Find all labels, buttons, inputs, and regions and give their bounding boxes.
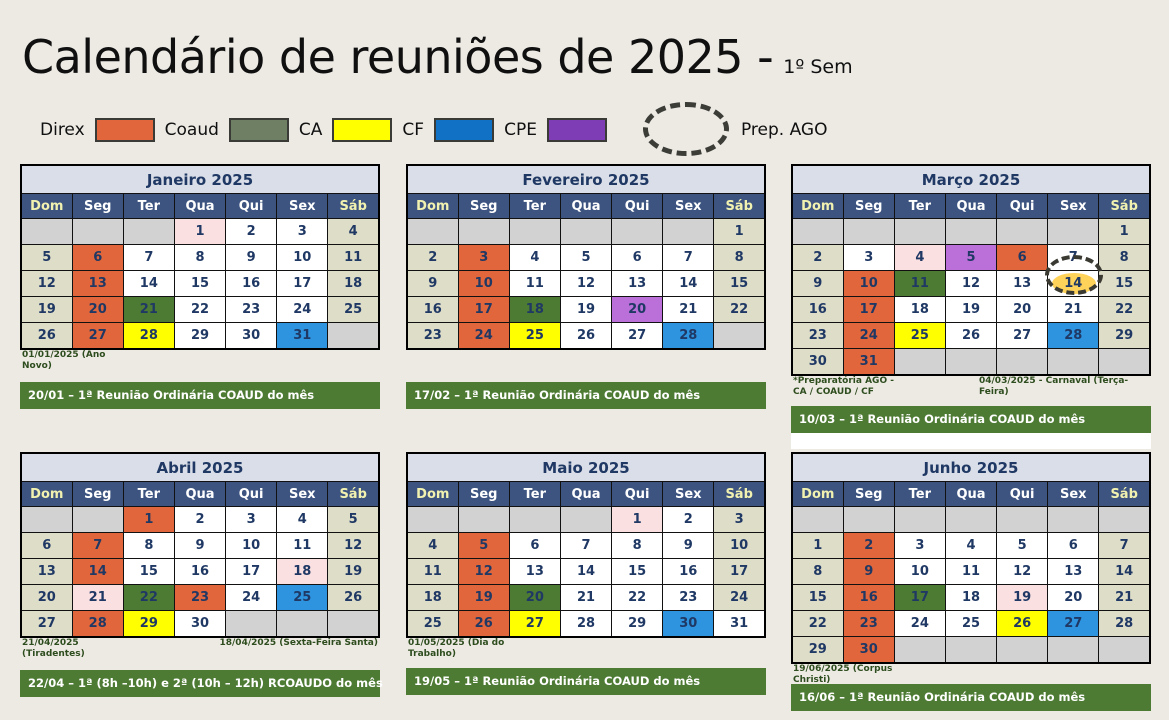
week-row: 567891011 — [21, 245, 379, 271]
day-cell-january-23[interactable]: 23 — [226, 297, 277, 323]
day-cell-april-29[interactable]: 29 — [123, 611, 174, 638]
day-cell-march-15[interactable]: 15 — [1099, 271, 1150, 297]
calendar-table-january: Janeiro 2025DomSegTerQuaQuiSexSáb1234567… — [20, 164, 380, 350]
legend-prep-ago-marker — [643, 102, 733, 158]
legend-label-coaud: Coaud — [165, 120, 219, 140]
day-cell-empty — [72, 507, 123, 533]
day-cell-june-12[interactable]: 12 — [997, 559, 1048, 585]
day-cell-april-21[interactable]: 21 — [72, 585, 123, 611]
legend: DirexCoaudCACFCPEPrep. AGO — [40, 115, 827, 145]
day-cell-march-22[interactable]: 22 — [1099, 297, 1150, 323]
day-cell-february-23[interactable]: 23 — [407, 323, 458, 350]
day-cell-february-9[interactable]: 9 — [407, 271, 458, 297]
day-cell-april-16[interactable]: 16 — [174, 559, 225, 585]
legend-label-ca: CA — [299, 120, 323, 140]
dow-header-sex: Sex — [277, 482, 328, 507]
day-cell-june-17[interactable]: 17 — [894, 585, 945, 611]
day-cell-march-30[interactable]: 30 — [792, 349, 843, 376]
calendar-table-march: Março 2025DomSegTerQuaQuiSexSáb123456789… — [791, 164, 1151, 376]
day-cell-june-21[interactable]: 21 — [1099, 585, 1150, 611]
dow-header-seg: Seg — [458, 194, 509, 219]
legend-swatch-cpe — [547, 118, 607, 142]
day-cell-january-4[interactable]: 4 — [328, 219, 379, 245]
day-cell-may-25[interactable]: 25 — [407, 611, 458, 638]
day-cell-january-27[interactable]: 27 — [72, 323, 123, 350]
day-cell-may-16[interactable]: 16 — [663, 559, 714, 585]
day-cell-june-27[interactable]: 27 — [1048, 611, 1099, 637]
day-cell-january-14[interactable]: 14 — [123, 271, 174, 297]
day-cell-january-1[interactable]: 1 — [174, 219, 225, 245]
dow-header-seg: Seg — [72, 482, 123, 507]
day-cell-empty — [560, 219, 611, 245]
day-cell-june-29[interactable]: 29 — [792, 637, 843, 664]
page-title-semester: 1º Sem — [783, 56, 852, 78]
day-cell-february-15[interactable]: 15 — [714, 271, 765, 297]
day-cell-june-11[interactable]: 11 — [945, 559, 996, 585]
month-notes-may: 01/05/2025 (Dia do Trabalho) — [406, 638, 766, 668]
day-cell-february-10[interactable]: 10 — [458, 271, 509, 297]
day-cell-april-24[interactable]: 24 — [226, 585, 277, 611]
day-cell-may-3[interactable]: 3 — [714, 507, 765, 533]
day-cell-february-1[interactable]: 1 — [714, 219, 765, 245]
day-cell-april-14[interactable]: 14 — [72, 559, 123, 585]
month-title-march: Março 2025 — [792, 165, 1150, 194]
calendar-table-february: Fevereiro 2025DomSegTerQuaQuiSexSáb12345… — [406, 164, 766, 350]
dow-header-qui: Qui — [612, 482, 663, 507]
day-cell-may-11[interactable]: 11 — [407, 559, 458, 585]
legend-label-cpe: CPE — [504, 120, 537, 140]
day-cell-february-8[interactable]: 8 — [714, 245, 765, 271]
day-cell-february-20[interactable]: 20 — [612, 297, 663, 323]
day-cell-june-23[interactable]: 23 — [843, 611, 894, 637]
dow-header-seg: Seg — [843, 482, 894, 507]
day-cell-may-5[interactable]: 5 — [458, 533, 509, 559]
day-cell-may-12[interactable]: 12 — [458, 559, 509, 585]
day-cell-march-6[interactable]: 6 — [997, 245, 1048, 271]
day-cell-january-11[interactable]: 11 — [328, 245, 379, 271]
dow-header-sex: Sex — [277, 194, 328, 219]
month-block-february: Fevereiro 2025DomSegTerQuaQuiSexSáb12345… — [406, 164, 766, 409]
day-cell-january-9[interactable]: 9 — [226, 245, 277, 271]
day-cell-january-7[interactable]: 7 — [123, 245, 174, 271]
day-cell-april-2[interactable]: 2 — [174, 507, 225, 533]
day-cell-february-4[interactable]: 4 — [509, 245, 560, 271]
day-cell-march-7[interactable]: 7 — [1048, 245, 1099, 271]
day-cell-april-4[interactable]: 4 — [277, 507, 328, 533]
dow-header-sex: Sex — [663, 194, 714, 219]
day-cell-april-19[interactable]: 19 — [328, 559, 379, 585]
day-cell-february-18[interactable]: 18 — [509, 297, 560, 323]
day-cell-empty — [407, 507, 458, 533]
day-cell-january-5[interactable]: 5 — [21, 245, 72, 271]
dow-header-sáb: Sáb — [714, 482, 765, 507]
day-cell-june-7[interactable]: 7 — [1099, 533, 1150, 559]
dow-header-qua: Qua — [174, 482, 225, 507]
day-cell-march-25[interactable]: 25 — [894, 323, 945, 349]
day-cell-january-26[interactable]: 26 — [21, 323, 72, 350]
day-cell-may-19[interactable]: 19 — [458, 585, 509, 611]
dow-header-ter: Ter — [123, 194, 174, 219]
day-cell-may-26[interactable]: 26 — [458, 611, 509, 638]
day-cell-may-31[interactable]: 31 — [714, 611, 765, 638]
day-cell-march-12[interactable]: 12 — [945, 271, 996, 297]
month-title-april: Abril 2025 — [21, 453, 379, 482]
day-cell-june-20[interactable]: 20 — [1048, 585, 1099, 611]
day-cell-june-16[interactable]: 16 — [843, 585, 894, 611]
day-cell-march-26[interactable]: 26 — [945, 323, 996, 349]
month-notes-january: 01/01/2025 (Ano Novo) — [20, 350, 380, 382]
day-cell-april-17[interactable]: 17 — [226, 559, 277, 585]
day-cell-empty — [21, 507, 72, 533]
day-cell-march-18[interactable]: 18 — [894, 297, 945, 323]
day-cell-june-19[interactable]: 19 — [997, 585, 1048, 611]
week-row: 9101112131415 — [792, 271, 1150, 297]
day-cell-may-28[interactable]: 28 — [560, 611, 611, 638]
day-cell-february-28[interactable]: 28 — [663, 323, 714, 350]
dow-header-ter: Ter — [894, 194, 945, 219]
day-cell-empty — [560, 507, 611, 533]
day-cell-march-13[interactable]: 13 — [997, 271, 1048, 297]
day-cell-march-9[interactable]: 9 — [792, 271, 843, 297]
day-cell-empty — [714, 323, 765, 350]
day-cell-january-29[interactable]: 29 — [174, 323, 225, 350]
day-cell-may-1[interactable]: 1 — [612, 507, 663, 533]
day-cell-february-3[interactable]: 3 — [458, 245, 509, 271]
dow-header-qua: Qua — [174, 194, 225, 219]
day-cell-march-3[interactable]: 3 — [843, 245, 894, 271]
legend-label-prep-ago: Prep. AGO — [741, 120, 828, 140]
day-cell-june-30[interactable]: 30 — [843, 637, 894, 664]
meeting-band-may: 19/05 – 1ª Reunião Ordinária COAUD do mê… — [406, 668, 766, 695]
dow-header-dom: Dom — [21, 194, 72, 219]
day-cell-empty — [612, 219, 663, 245]
legend-item-coaud: Coaud — [165, 118, 299, 142]
month-title-may: Maio 2025 — [407, 453, 765, 482]
day-cell-june-13[interactable]: 13 — [1048, 559, 1099, 585]
day-cell-empty — [997, 637, 1048, 664]
week-row: 2930 — [792, 637, 1150, 664]
day-cell-empty — [843, 507, 894, 533]
day-cell-april-22[interactable]: 22 — [123, 585, 174, 611]
dow-header-dom: Dom — [792, 482, 843, 507]
day-cell-june-1[interactable]: 1 — [792, 533, 843, 559]
week-row: 12345 — [21, 507, 379, 533]
day-cell-april-6[interactable]: 6 — [21, 533, 72, 559]
month-notes-march: *Preparatória AGO - CA / COAUD / CF04/03… — [791, 376, 1151, 406]
legend-swatch-coaud — [229, 118, 289, 142]
month-title-june: Junho 2025 — [792, 453, 1150, 482]
dow-header-qua: Qua — [945, 194, 996, 219]
dow-header-sáb: Sáb — [1099, 482, 1150, 507]
day-cell-february-21[interactable]: 21 — [663, 297, 714, 323]
day-cell-june-6[interactable]: 6 — [1048, 533, 1099, 559]
day-cell-february-7[interactable]: 7 — [663, 245, 714, 271]
day-cell-march-17[interactable]: 17 — [843, 297, 894, 323]
day-cell-march-23[interactable]: 23 — [792, 323, 843, 349]
day-cell-january-3[interactable]: 3 — [277, 219, 328, 245]
week-row: 232425262728 — [407, 323, 765, 350]
day-cell-march-1[interactable]: 1 — [1099, 219, 1150, 245]
dow-header-sáb: Sáb — [328, 482, 379, 507]
day-cell-february-24[interactable]: 24 — [458, 323, 509, 350]
day-cell-february-19[interactable]: 19 — [560, 297, 611, 323]
day-cell-march-14[interactable]: 14 — [1048, 271, 1099, 297]
dow-header-qua: Qua — [560, 194, 611, 219]
day-cell-june-3[interactable]: 3 — [894, 533, 945, 559]
dow-header-seg: Seg — [72, 194, 123, 219]
dow-header-qui: Qui — [226, 482, 277, 507]
day-cell-february-2[interactable]: 2 — [407, 245, 458, 271]
day-cell-april-8[interactable]: 8 — [123, 533, 174, 559]
day-cell-january-20[interactable]: 20 — [72, 297, 123, 323]
day-cell-april-27[interactable]: 27 — [21, 611, 72, 638]
day-cell-may-15[interactable]: 15 — [612, 559, 663, 585]
meeting-band-january: 20/01 – 1ª Reunião Ordinária COAUD do mê… — [20, 382, 380, 409]
day-cell-may-18[interactable]: 18 — [407, 585, 458, 611]
dow-header-dom: Dom — [21, 482, 72, 507]
dow-header-dom: Dom — [792, 194, 843, 219]
day-cell-may-14[interactable]: 14 — [560, 559, 611, 585]
day-cell-empty — [458, 219, 509, 245]
day-cell-january-30[interactable]: 30 — [226, 323, 277, 350]
day-cell-march-5[interactable]: 5 — [945, 245, 996, 271]
dow-header-ter: Ter — [509, 482, 560, 507]
day-cell-april-28[interactable]: 28 — [72, 611, 123, 638]
dow-header-dom: Dom — [407, 482, 458, 507]
holiday-note: 01/05/2025 (Dia do Trabalho) — [408, 638, 518, 660]
day-cell-empty — [792, 219, 843, 245]
day-cell-may-2[interactable]: 2 — [663, 507, 714, 533]
day-cell-empty — [226, 611, 277, 638]
day-cell-january-12[interactable]: 12 — [21, 271, 72, 297]
legend-label-direx: Direx — [40, 120, 85, 140]
day-cell-january-22[interactable]: 22 — [174, 297, 225, 323]
day-cell-february-13[interactable]: 13 — [612, 271, 663, 297]
legend-item-direx: Direx — [40, 118, 165, 142]
month-block-april: Abril 2025DomSegTerQuaQuiSexSáb123456789… — [20, 452, 380, 697]
day-cell-april-12[interactable]: 12 — [328, 533, 379, 559]
day-cell-june-28[interactable]: 28 — [1099, 611, 1150, 637]
month-block-june: Junho 2025DomSegTerQuaQuiSexSáb123456789… — [791, 452, 1151, 711]
meeting-band-february: 17/02 – 1ª Reunião Ordinária COAUD do mê… — [406, 382, 766, 409]
day-cell-april-20[interactable]: 20 — [21, 585, 72, 611]
day-cell-may-23[interactable]: 23 — [663, 585, 714, 611]
day-cell-february-5[interactable]: 5 — [560, 245, 611, 271]
day-cell-empty — [1099, 507, 1150, 533]
day-cell-january-24[interactable]: 24 — [277, 297, 328, 323]
day-cell-june-25[interactable]: 25 — [945, 611, 996, 637]
day-cell-january-2[interactable]: 2 — [226, 219, 277, 245]
day-cell-march-10[interactable]: 10 — [843, 271, 894, 297]
day-cell-empty — [328, 611, 379, 638]
day-cell-march-28[interactable]: 28 — [1048, 323, 1099, 349]
day-cell-empty — [894, 349, 945, 376]
day-cell-may-24[interactable]: 24 — [714, 585, 765, 611]
day-cell-march-11[interactable]: 11 — [894, 271, 945, 297]
week-row: 1 — [407, 219, 765, 245]
day-cell-may-17[interactable]: 17 — [714, 559, 765, 585]
day-cell-may-7[interactable]: 7 — [560, 533, 611, 559]
day-cell-january-13[interactable]: 13 — [72, 271, 123, 297]
day-cell-april-10[interactable]: 10 — [226, 533, 277, 559]
week-row: 9101112131415 — [407, 271, 765, 297]
day-cell-may-30[interactable]: 30 — [663, 611, 714, 638]
calendar-table-june: Junho 2025DomSegTerQuaQuiSexSáb123456789… — [791, 452, 1151, 664]
week-row: 262728293031 — [21, 323, 379, 350]
month-title-february: Fevereiro 2025 — [407, 165, 765, 194]
day-cell-june-26[interactable]: 26 — [997, 611, 1048, 637]
day-cell-empty — [997, 507, 1048, 533]
day-cell-february-12[interactable]: 12 — [560, 271, 611, 297]
day-cell-april-13[interactable]: 13 — [21, 559, 72, 585]
day-cell-april-26[interactable]: 26 — [328, 585, 379, 611]
day-cell-march-24[interactable]: 24 — [843, 323, 894, 349]
day-cell-february-26[interactable]: 26 — [560, 323, 611, 350]
day-cell-june-18[interactable]: 18 — [945, 585, 996, 611]
day-cell-april-9[interactable]: 9 — [174, 533, 225, 559]
dashed-ellipse-icon — [643, 102, 729, 156]
day-cell-empty — [945, 219, 996, 245]
day-cell-april-15[interactable]: 15 — [123, 559, 174, 585]
day-cell-april-25[interactable]: 25 — [277, 585, 328, 611]
week-row: 2345678 — [792, 245, 1150, 271]
day-cell-june-5[interactable]: 5 — [997, 533, 1048, 559]
day-cell-march-27[interactable]: 27 — [997, 323, 1048, 349]
week-row: 27282930 — [21, 611, 379, 638]
day-cell-empty — [1048, 349, 1099, 376]
dow-header-qui: Qui — [612, 194, 663, 219]
meeting-band-april: 22/04 – 1ª (8h –10h) e 2ª (10h – 12h) RC… — [20, 670, 380, 697]
day-cell-may-10[interactable]: 10 — [714, 533, 765, 559]
day-cell-april-3[interactable]: 3 — [226, 507, 277, 533]
day-cell-march-29[interactable]: 29 — [1099, 323, 1150, 349]
day-cell-empty — [72, 219, 123, 245]
day-cell-march-31[interactable]: 31 — [843, 349, 894, 376]
day-cell-january-31[interactable]: 31 — [277, 323, 328, 350]
day-cell-february-11[interactable]: 11 — [509, 271, 560, 297]
day-cell-empty — [1048, 637, 1099, 664]
day-cell-january-25[interactable]: 25 — [328, 297, 379, 323]
legend-item-cpe: CPE — [504, 118, 617, 142]
day-cell-march-2[interactable]: 2 — [792, 245, 843, 271]
day-cell-january-8[interactable]: 8 — [174, 245, 225, 271]
day-cell-january-10[interactable]: 10 — [277, 245, 328, 271]
day-cell-empty — [277, 611, 328, 638]
day-cell-april-7[interactable]: 7 — [72, 533, 123, 559]
day-cell-february-16[interactable]: 16 — [407, 297, 458, 323]
meeting-band-march: 10/03 – 1ª Reunião Ordinária COAUD do mê… — [791, 406, 1151, 433]
day-cell-february-17[interactable]: 17 — [458, 297, 509, 323]
day-cell-april-11[interactable]: 11 — [277, 533, 328, 559]
day-cell-april-30[interactable]: 30 — [174, 611, 225, 638]
day-cell-empty — [945, 507, 996, 533]
day-cell-june-15[interactable]: 15 — [792, 585, 843, 611]
day-cell-march-16[interactable]: 16 — [792, 297, 843, 323]
day-cell-may-22[interactable]: 22 — [612, 585, 663, 611]
day-cell-april-5[interactable]: 5 — [328, 507, 379, 533]
day-cell-empty — [123, 219, 174, 245]
day-cell-march-20[interactable]: 20 — [997, 297, 1048, 323]
day-cell-may-4[interactable]: 4 — [407, 533, 458, 559]
day-cell-january-6[interactable]: 6 — [72, 245, 123, 271]
day-cell-february-27[interactable]: 27 — [612, 323, 663, 350]
holiday-note: 04/03/2025 - Carnaval (Terça-Feira) — [979, 376, 1149, 398]
day-cell-march-8[interactable]: 8 — [1099, 245, 1150, 271]
day-cell-march-4[interactable]: 4 — [894, 245, 945, 271]
month-block-january: Janeiro 2025DomSegTerQuaQuiSexSáb1234567… — [20, 164, 380, 409]
day-cell-february-25[interactable]: 25 — [509, 323, 560, 350]
day-cell-february-22[interactable]: 22 — [714, 297, 765, 323]
month-notes-june: 19/06/2025 (Corpus Christi) — [791, 664, 1151, 684]
dow-header-seg: Seg — [458, 482, 509, 507]
day-cell-may-21[interactable]: 21 — [560, 585, 611, 611]
month-block-march: Março 2025DomSegTerQuaQuiSexSáb123456789… — [791, 164, 1151, 449]
day-cell-empty — [843, 219, 894, 245]
day-cell-june-2[interactable]: 2 — [843, 533, 894, 559]
day-cell-january-17[interactable]: 17 — [277, 271, 328, 297]
day-cell-may-8[interactable]: 8 — [612, 533, 663, 559]
holiday-note: *Preparatória AGO - CA / COAUD / CF — [793, 376, 903, 398]
day-cell-february-6[interactable]: 6 — [612, 245, 663, 271]
day-cell-empty — [997, 349, 1048, 376]
day-cell-april-23[interactable]: 23 — [174, 585, 225, 611]
dow-header-qua: Qua — [560, 482, 611, 507]
day-cell-january-21[interactable]: 21 — [123, 297, 174, 323]
day-cell-april-1[interactable]: 1 — [123, 507, 174, 533]
day-cell-june-9[interactable]: 9 — [843, 559, 894, 585]
day-cell-january-28[interactable]: 28 — [123, 323, 174, 350]
day-cell-empty — [458, 507, 509, 533]
day-cell-may-6[interactable]: 6 — [509, 533, 560, 559]
week-row: 891011121314 — [792, 559, 1150, 585]
day-cell-june-4[interactable]: 4 — [945, 533, 996, 559]
day-cell-june-10[interactable]: 10 — [894, 559, 945, 585]
day-cell-january-15[interactable]: 15 — [174, 271, 225, 297]
day-cell-january-18[interactable]: 18 — [328, 271, 379, 297]
day-cell-may-13[interactable]: 13 — [509, 559, 560, 585]
day-cell-may-27[interactable]: 27 — [509, 611, 560, 638]
dow-header-qui: Qui — [226, 194, 277, 219]
week-row: 18192021222324 — [407, 585, 765, 611]
day-cell-june-14[interactable]: 14 — [1099, 559, 1150, 585]
day-cell-empty — [21, 219, 72, 245]
day-cell-empty — [509, 507, 560, 533]
day-cell-empty — [1099, 637, 1150, 664]
day-cell-empty — [945, 637, 996, 664]
page-title: Calendário de reuniões de 2025 - 1º Sem — [22, 30, 853, 84]
day-cell-april-18[interactable]: 18 — [277, 559, 328, 585]
day-cell-empty — [997, 219, 1048, 245]
dow-header-ter: Ter — [509, 194, 560, 219]
day-cell-june-22[interactable]: 22 — [792, 611, 843, 637]
week-row: 19202122232425 — [21, 297, 379, 323]
legend-swatch-ca — [332, 118, 392, 142]
day-cell-june-24[interactable]: 24 — [894, 611, 945, 637]
day-cell-january-16[interactable]: 16 — [226, 271, 277, 297]
day-cell-march-21[interactable]: 21 — [1048, 297, 1099, 323]
day-cell-february-14[interactable]: 14 — [663, 271, 714, 297]
day-cell-may-20[interactable]: 20 — [509, 585, 560, 611]
week-row: 13141516171819 — [21, 559, 379, 585]
day-cell-empty — [894, 637, 945, 664]
day-cell-may-9[interactable]: 9 — [663, 533, 714, 559]
week-row: 25262728293031 — [407, 611, 765, 638]
day-cell-january-19[interactable]: 19 — [21, 297, 72, 323]
day-cell-march-19[interactable]: 19 — [945, 297, 996, 323]
month-notes-april: 21/04/2025 (Tiradentes)18/04/2025 (Sexta… — [20, 638, 380, 670]
day-cell-june-8[interactable]: 8 — [792, 559, 843, 585]
day-cell-may-29[interactable]: 29 — [612, 611, 663, 638]
